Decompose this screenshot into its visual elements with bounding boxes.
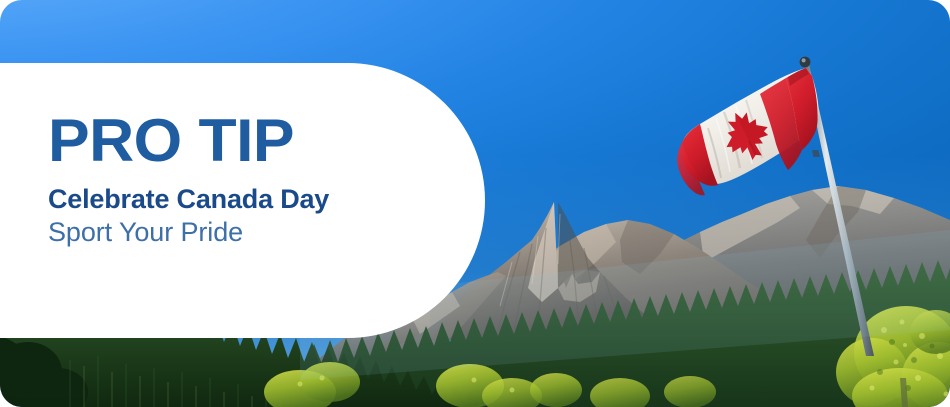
page-subtitle: Sport Your Pride (48, 217, 448, 249)
eyebrow-pro-tip: PRO TIP (48, 112, 464, 170)
page-title: Celebrate Canada Day (48, 184, 448, 216)
pro-tip-banner: PRO TIP Celebrate Canada Day Sport Your … (0, 0, 950, 407)
banner-text-block: PRO TIP Celebrate Canada Day Sport Your … (48, 112, 448, 249)
canadian-flag-group (677, 68, 818, 195)
